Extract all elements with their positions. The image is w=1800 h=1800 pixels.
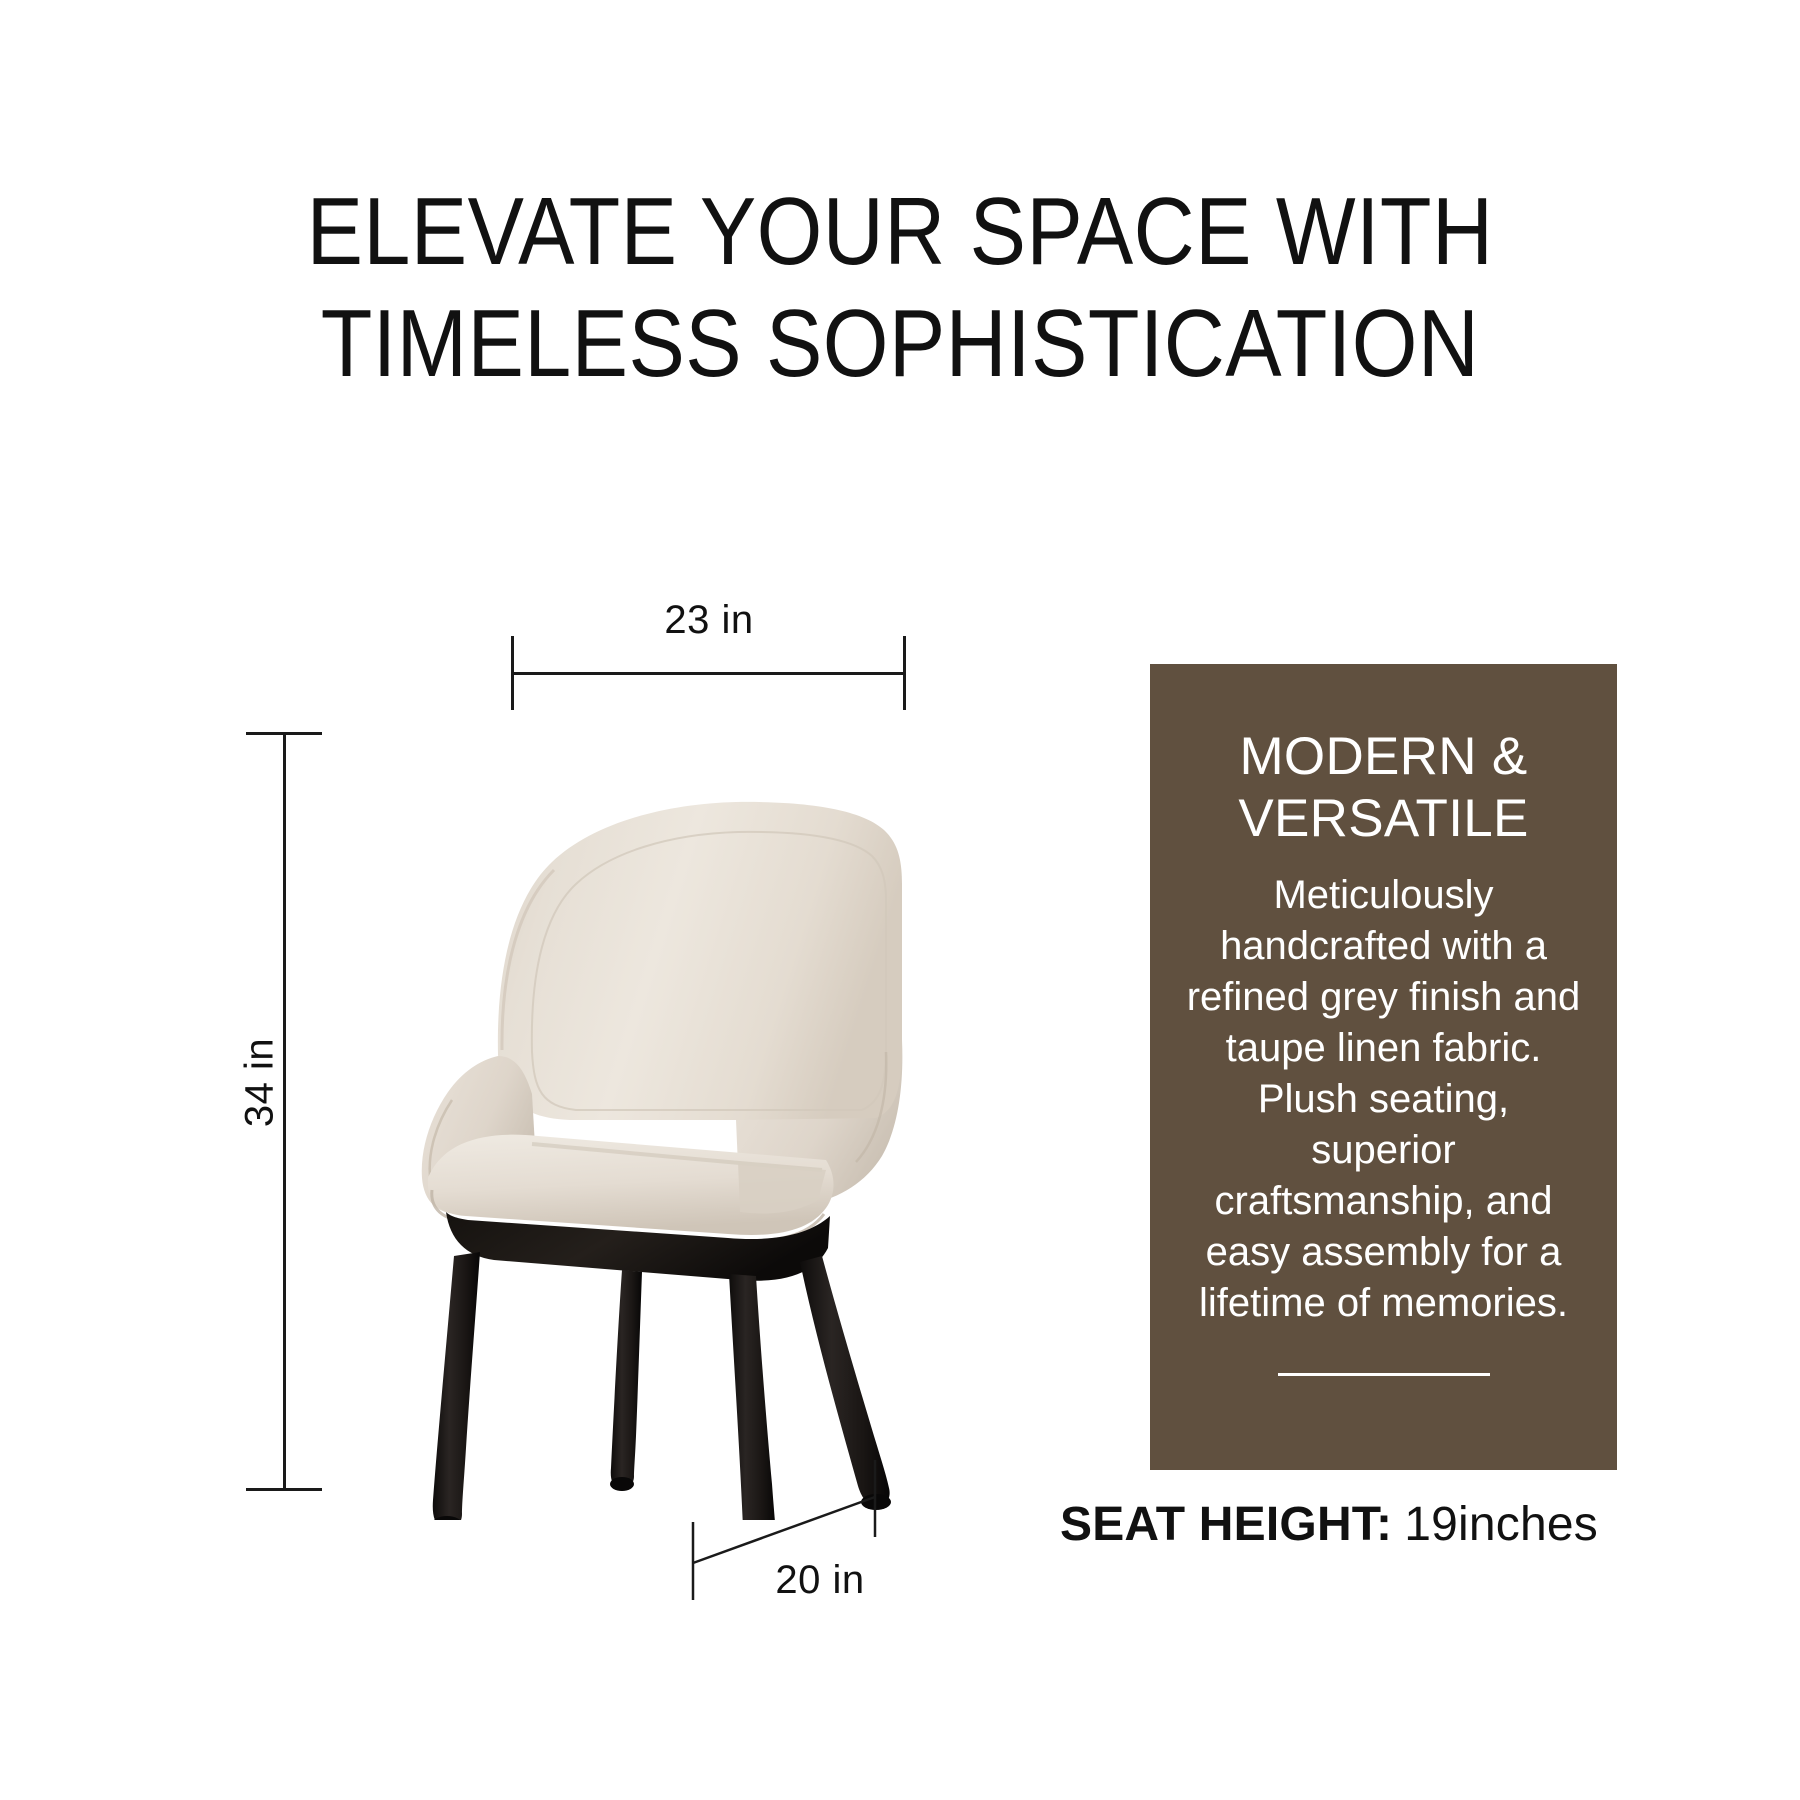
feature-panel-heading: MODERN & VERSATILE bbox=[1238, 726, 1528, 850]
seat-height-value: 19inches bbox=[1404, 1497, 1598, 1552]
dimension-width-cap-right bbox=[903, 636, 906, 710]
dimension-height-label: 34 in bbox=[238, 973, 283, 1193]
dimension-height-line bbox=[283, 733, 286, 1490]
seat-height-row: SEAT HEIGHT: 19inches bbox=[1060, 1497, 1680, 1552]
page-title: ELEVATE YOUR SPACE WITH TIMELESS SOPHIST… bbox=[108, 176, 1692, 400]
dimension-width-cap-left bbox=[511, 636, 514, 710]
seat-height-label: SEAT HEIGHT: bbox=[1060, 1497, 1392, 1552]
dimension-height-cap-top bbox=[246, 732, 322, 735]
dimension-width-label: 23 in bbox=[512, 598, 906, 643]
product-image-chair bbox=[270, 700, 910, 1520]
infographic-page: ELEVATE YOUR SPACE WITH TIMELESS SOPHIST… bbox=[0, 0, 1800, 1800]
dimension-height-cap-bottom bbox=[246, 1488, 322, 1491]
feature-panel-divider bbox=[1278, 1373, 1490, 1376]
feature-panel: MODERN & VERSATILE Meticulously handcraf… bbox=[1150, 664, 1617, 1470]
dimension-depth-label: 20 in bbox=[690, 1558, 950, 1603]
feature-panel-body: Meticulously handcrafted with a refined … bbox=[1186, 870, 1581, 1329]
dimension-width-line bbox=[512, 672, 906, 675]
chair-backrest bbox=[498, 802, 902, 1120]
